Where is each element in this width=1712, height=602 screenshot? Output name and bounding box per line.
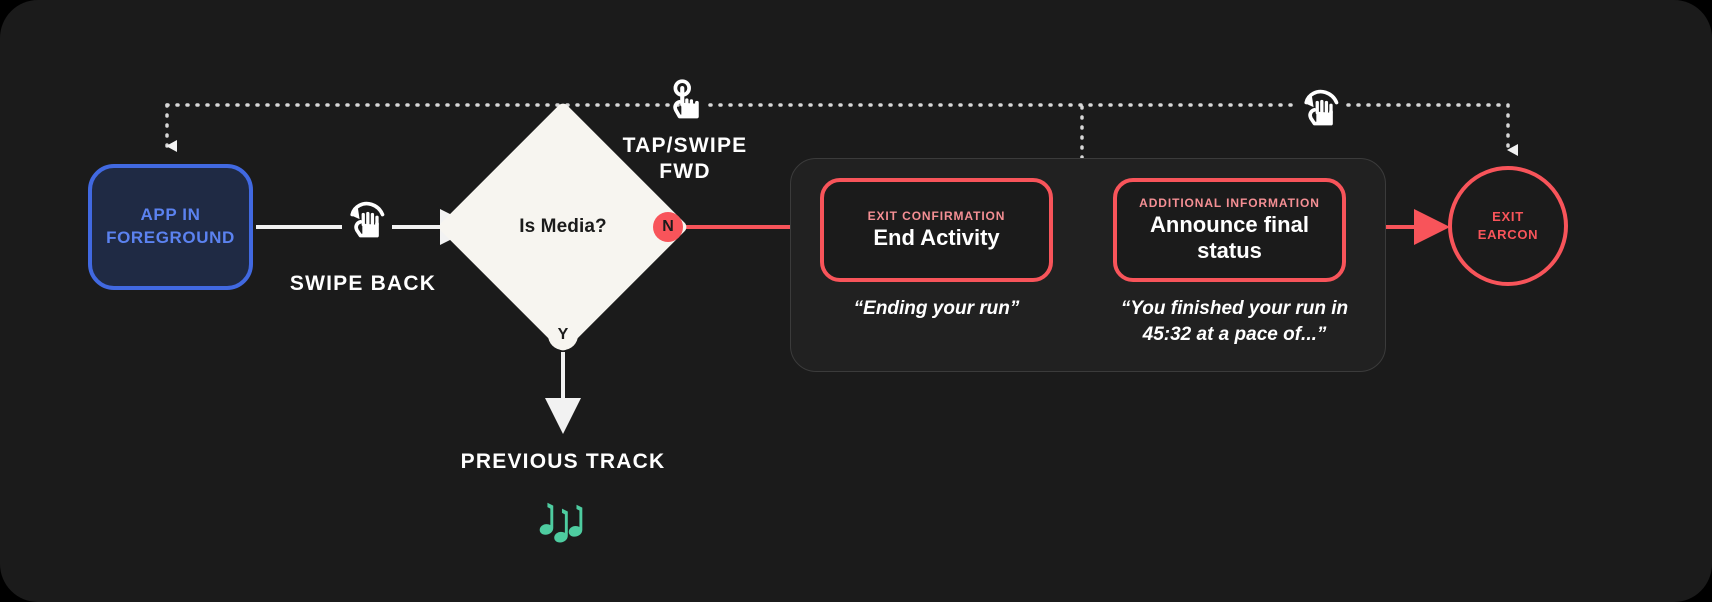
tap-gesture-icon [663,78,707,122]
diagram-stage: APP IN FOREGROUND Is Media? N Y EXIT CON… [0,0,1712,602]
caption-tap-swipe-line1: TAP/SWIPE [623,134,748,157]
app-label-line2: FOREGROUND [106,228,235,247]
card-additional-information-eyebrow: ADDITIONAL INFORMATION [1139,196,1320,210]
earcon-label-line1: EXIT [1492,209,1524,224]
node-app-in-foreground[interactable]: APP IN FOREGROUND [88,164,253,290]
caption-swipe-back: SWIPE BACK [268,272,458,296]
node-app-in-foreground-label: APP IN FOREGROUND [106,204,235,250]
branch-badge-yes: Y [548,320,578,350]
card-exit-confirmation-title: End Activity [873,225,999,251]
app-label-line1: APP IN [141,205,201,224]
card-exit-confirmation-eyebrow: EXIT CONFIRMATION [868,209,1006,223]
earcon-label-line2: EARCON [1478,227,1539,242]
card-additional-information-title: Announce final status [1127,212,1332,265]
quote-exit-confirmation: “Ending your run” [820,296,1053,322]
card-exit-confirmation[interactable]: EXIT CONFIRMATION End Activity [820,178,1053,282]
card-additional-information[interactable]: ADDITIONAL INFORMATION Announce final st… [1113,178,1346,282]
diagram-canvas: APP IN FOREGROUND Is Media? N Y EXIT CON… [0,0,1712,602]
quote-additional-information: “You finished your run in 45:32 at a pac… [1113,296,1356,347]
caption-tap-swipe-line2: FWD [659,160,710,183]
music-notes-icon [530,495,592,557]
caption-previous-track: PREVIOUS TRACK [448,450,678,474]
swipe-back-gesture-icon [344,198,388,242]
swipe-back-gesture-icon-top [1298,86,1342,130]
branch-badge-no: N [653,212,683,242]
caption-tap-swipe-fwd: TAP/SWIPE FWD [600,133,770,186]
node-exit-earcon-label: EXIT EARCON [1478,208,1539,243]
node-decision-label: Is Media? [519,216,606,238]
node-exit-earcon[interactable]: EXIT EARCON [1448,166,1568,286]
